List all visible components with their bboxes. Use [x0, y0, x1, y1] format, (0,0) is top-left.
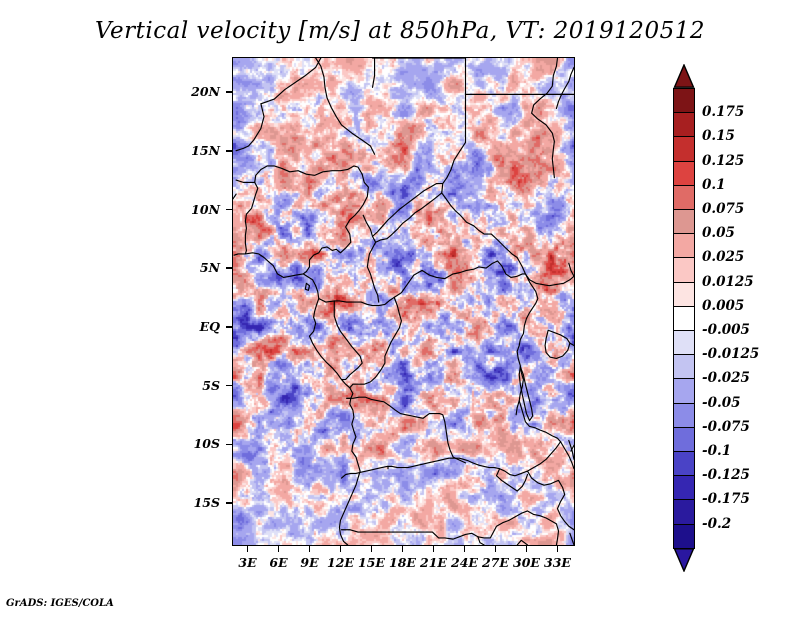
y-axis-label: 15S: [180, 495, 220, 510]
colorbar-tick-label: 0.05: [702, 225, 735, 241]
x-axis-tick: [464, 546, 466, 552]
colorbar-swatch: [673, 451, 695, 477]
colorbar-tick-label: -0.0125: [702, 346, 759, 362]
colorbar-swatch: [673, 112, 695, 138]
colorbar-swatch: [673, 378, 695, 404]
page-title: Vertical velocity [m/s] at 850hPa, VT: 2…: [0, 18, 800, 44]
x-axis-tick: [278, 546, 280, 552]
colorbar-tick-label: -0.2: [702, 516, 731, 532]
colorbar-swatch: [673, 354, 695, 380]
colorbar-swatch: [673, 282, 695, 308]
y-axis-label: 10S: [180, 436, 220, 451]
colorbar-swatch: [673, 185, 695, 211]
x-axis-tick: [340, 546, 342, 552]
x-axis-tick: [433, 546, 435, 552]
x-axis-tick: [557, 546, 559, 552]
map-plot-area: [232, 57, 575, 546]
colorbar-swatch: [673, 427, 695, 453]
x-axis-label: 33E: [540, 555, 576, 570]
colorbar-tick-label: 0.175: [702, 104, 744, 120]
x-axis-tick: [309, 546, 311, 552]
colorbar-tick-label: -0.075: [702, 419, 750, 435]
footer-credit: GrADS: IGES/COLA: [6, 598, 114, 609]
y-axis-label: 20N: [180, 84, 220, 99]
colorbar-tick-label: 0.125: [702, 153, 744, 169]
colorbar-swatch: [673, 136, 695, 162]
colorbar-tick-label: -0.05: [702, 395, 740, 411]
colorbar-swatch: [673, 209, 695, 235]
colorbar-tick-label: 0.1: [702, 177, 726, 193]
colorbar-tick-label: -0.025: [702, 370, 750, 386]
y-axis-tick: [226, 150, 232, 152]
colorbar-swatch: [673, 524, 695, 550]
y-axis-tick: [226, 444, 232, 446]
colorbar-swatch: [673, 257, 695, 283]
colorbar-swatch: [673, 233, 695, 259]
colorbar-swatch: [673, 88, 695, 114]
grads-plot-page: Vertical velocity [m/s] at 850hPa, VT: 2…: [0, 0, 800, 618]
colorbar-tick-label: 0.005: [702, 298, 744, 314]
y-axis-tick: [226, 209, 232, 211]
colorbar-swatch: [673, 403, 695, 429]
y-axis-label: 5S: [180, 378, 220, 393]
colorbar-tick-label: -0.125: [702, 467, 750, 483]
x-axis-tick: [526, 546, 528, 552]
colorbar-tick-label: 0.025: [702, 249, 744, 265]
colorbar: [673, 64, 697, 552]
colorbar-top-arrow: [673, 64, 695, 88]
y-axis-label: EQ: [180, 319, 220, 334]
x-axis-tick: [247, 546, 249, 552]
colorbar-tick-label: 0.075: [702, 201, 744, 217]
x-axis-tick: [402, 546, 404, 552]
colorbar-tick-label: 0.15: [702, 128, 735, 144]
y-axis-label: 10N: [180, 202, 220, 217]
y-axis-tick: [226, 326, 232, 328]
y-axis-label: 15N: [180, 143, 220, 158]
colorbar-swatch: [673, 161, 695, 187]
colorbar-tick-label: -0.005: [702, 322, 750, 338]
colorbar-tick-label: -0.1: [702, 443, 731, 459]
colorbar-bottom-arrow: [673, 548, 695, 572]
colorbar-swatch: [673, 306, 695, 332]
colorbar-tick-label: 0.0125: [702, 274, 754, 290]
country-borders-overlay: [233, 58, 574, 545]
colorbar-swatch: [673, 499, 695, 525]
x-axis-tick: [495, 546, 497, 552]
colorbar-tick-label: -0.175: [702, 491, 750, 507]
colorbar-swatch: [673, 330, 695, 356]
y-axis-label: 5N: [180, 260, 220, 275]
y-axis-tick: [226, 385, 232, 387]
y-axis-tick: [226, 91, 232, 93]
y-axis-tick: [226, 502, 232, 504]
y-axis-tick: [226, 267, 232, 269]
colorbar-swatch: [673, 475, 695, 501]
x-axis-tick: [371, 546, 373, 552]
